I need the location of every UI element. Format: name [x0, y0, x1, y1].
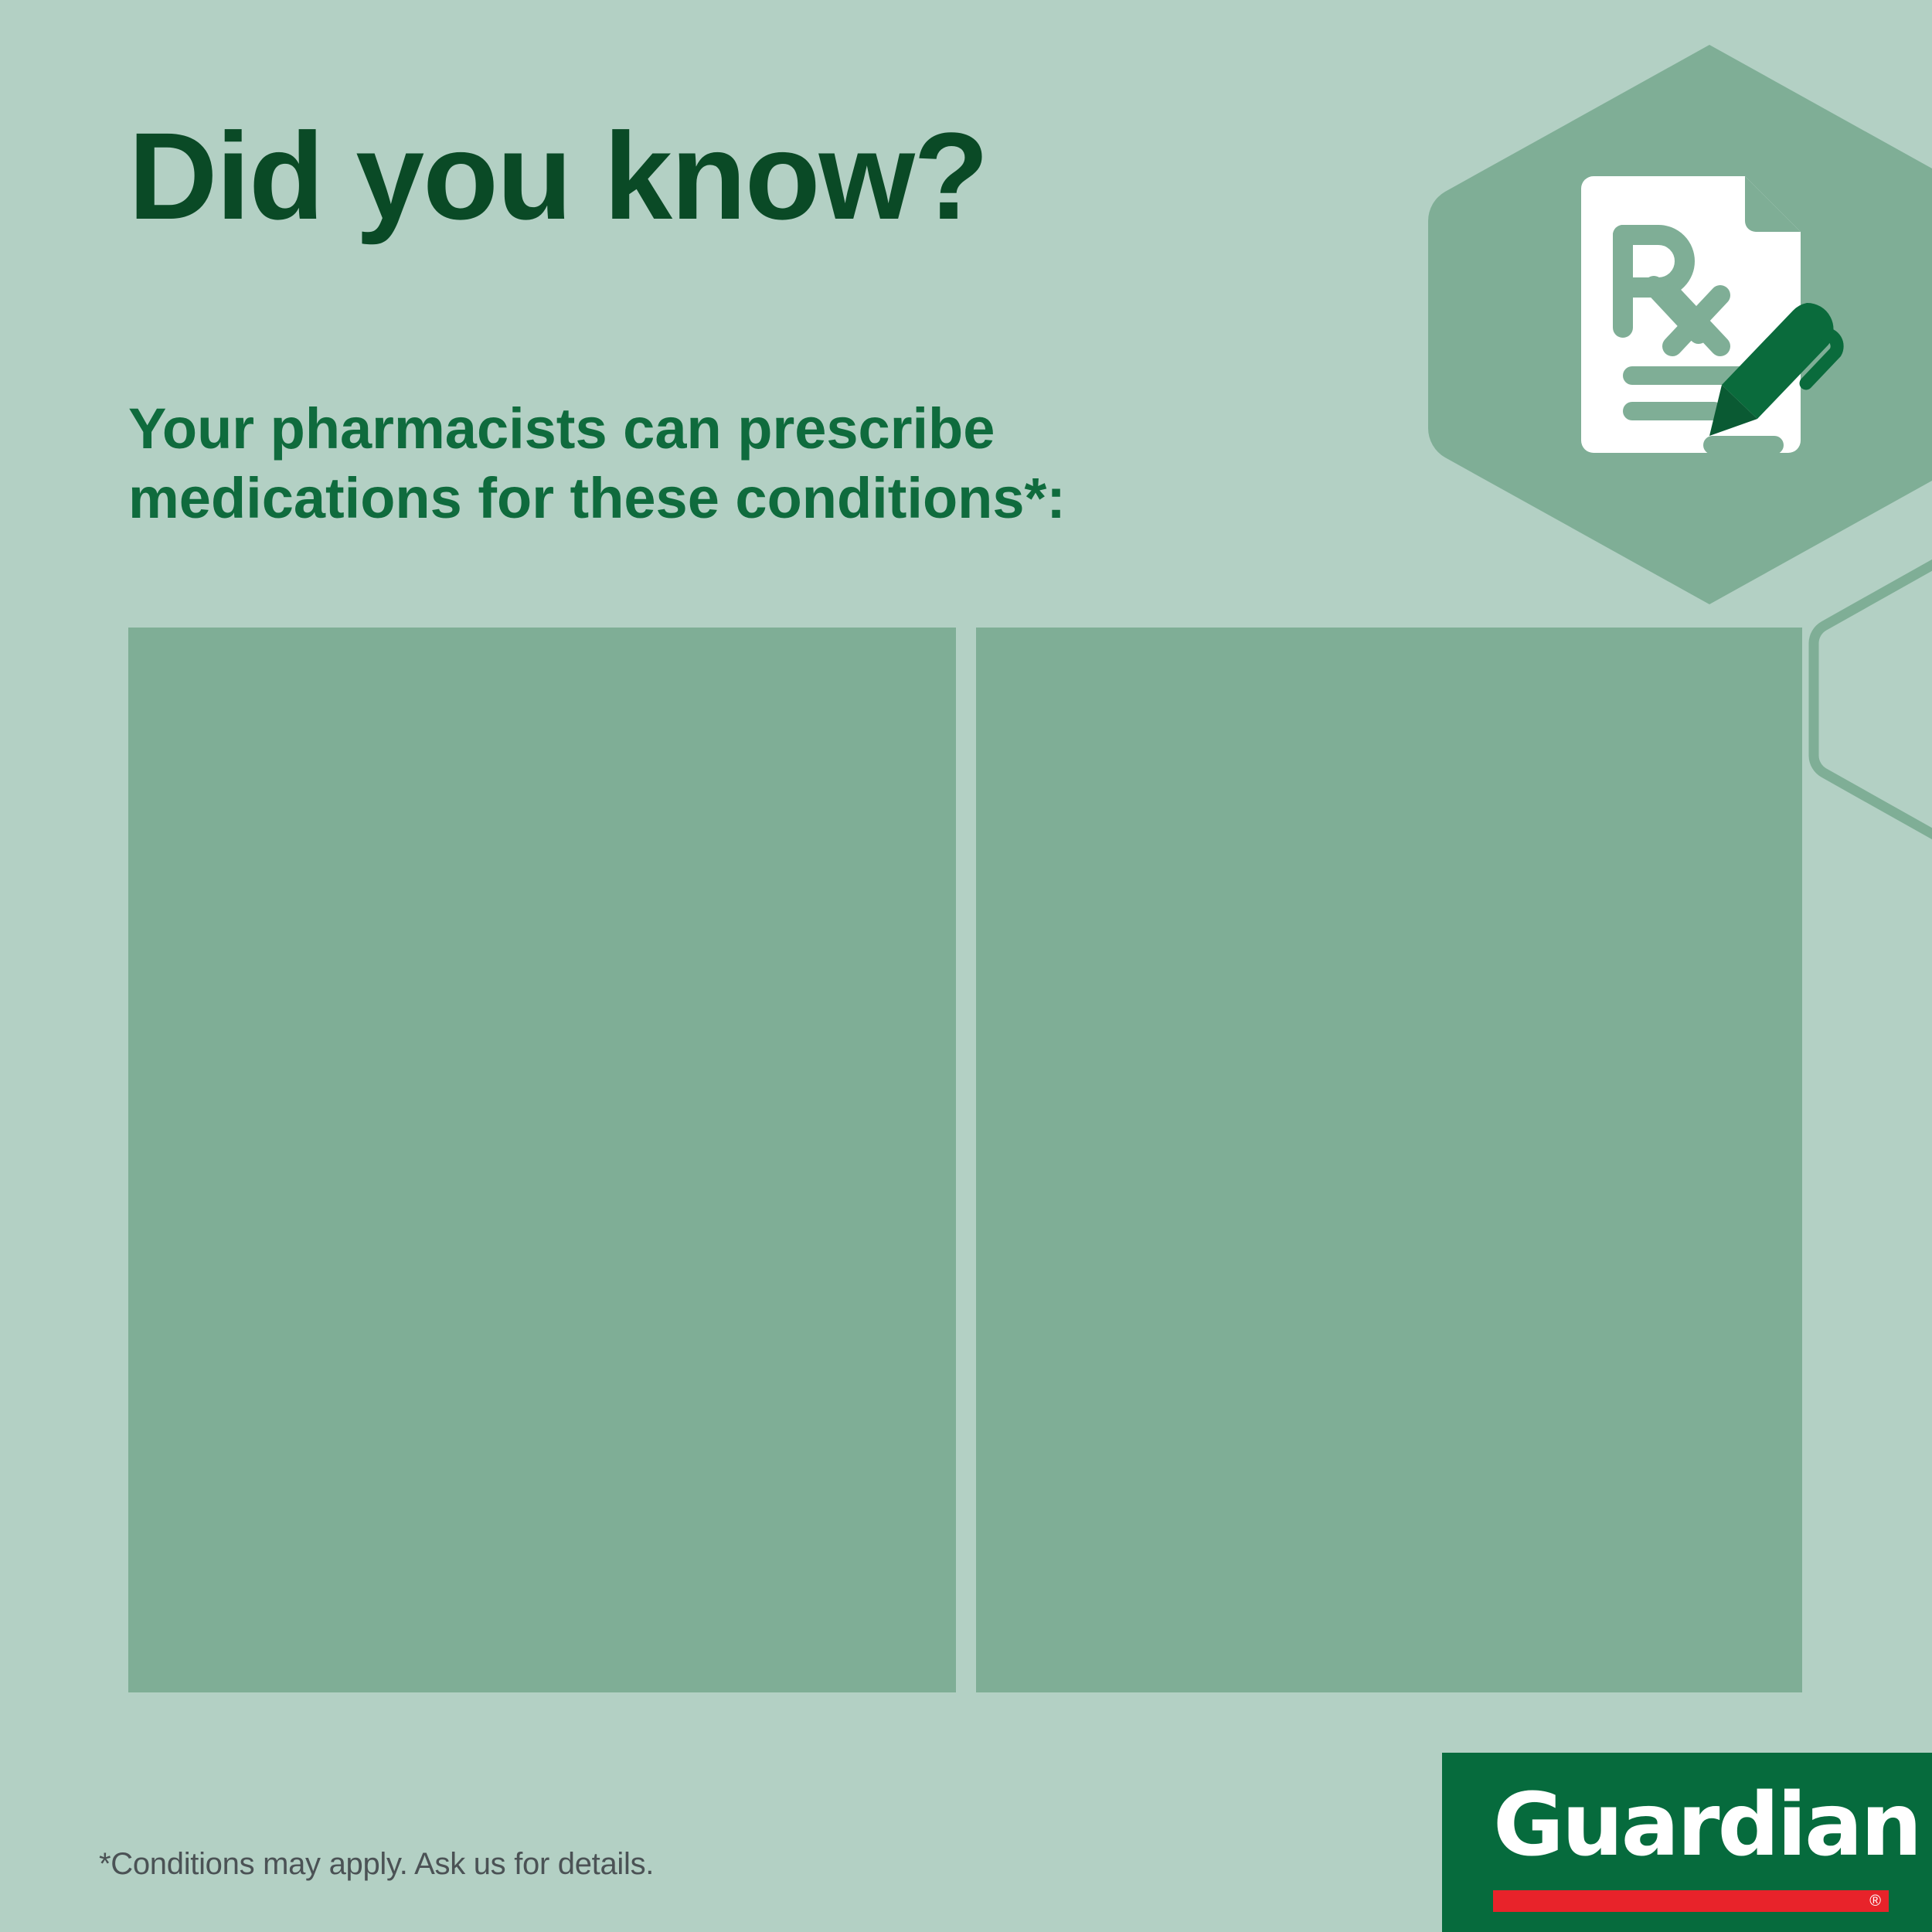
hexagon-outline-icon [1801, 533, 1932, 866]
page-subtitle-line-1: Your pharmacists can prescribe [128, 394, 1066, 464]
page-subtitle: Your pharmacists can prescribe medicatio… [128, 394, 1066, 534]
footnote-disclaimer: *Conditions may apply. Ask us for detail… [99, 1847, 654, 1882]
content-panel-group [128, 628, 1802, 1692]
guardian-wordmark: Guardian [1493, 1782, 1889, 1869]
guardian-red-rule: ® [1493, 1890, 1889, 1912]
right-content-panel [976, 628, 1802, 1692]
registered-trademark-icon: ® [1869, 1892, 1881, 1910]
left-content-panel [128, 628, 956, 1692]
poster-canvas: Did you know? Your pharmacists can presc… [0, 0, 1932, 1932]
rx-prescription-document-icon [1567, 164, 1845, 465]
page-subtitle-line-2: medications for these conditions*: [128, 464, 1066, 533]
page-title: Did you know? [128, 114, 988, 238]
guardian-logo: Guardian ® [1442, 1753, 1932, 1932]
